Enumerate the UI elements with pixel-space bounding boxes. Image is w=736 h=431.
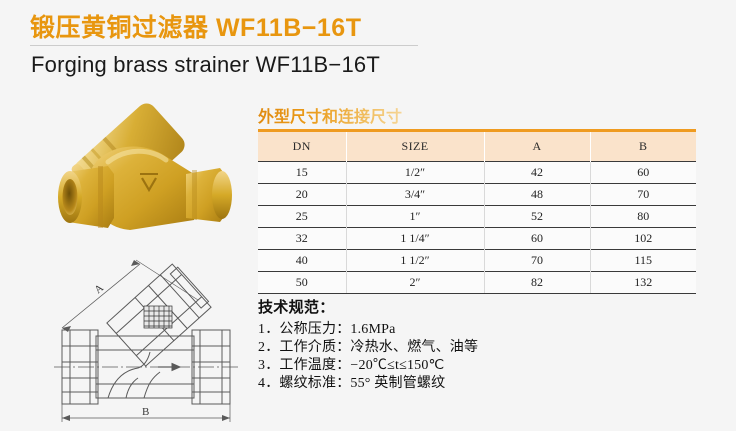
cell-b: 115 [590, 250, 696, 272]
cell-size: 1″ [346, 206, 484, 228]
cell-size: 1 1/2″ [346, 250, 484, 272]
cell-size: 1/2″ [346, 162, 484, 184]
cell-a: 52 [484, 206, 590, 228]
cell-size: 2″ [346, 272, 484, 294]
cell-size: 3/4″ [346, 184, 484, 206]
specs-column: 外型尺寸和连接尺寸 DN SIZE A B 15 1/2″ 42 60 20 3… [256, 0, 726, 431]
column-header-b: B [590, 131, 696, 162]
cell-a: 70 [484, 250, 590, 272]
cell-a: 42 [484, 162, 590, 184]
cell-a: 82 [484, 272, 590, 294]
spec-nominal-pressure: 1．公称压力：1.6MPa [258, 321, 558, 339]
cell-b: 132 [590, 272, 696, 294]
cell-dn: 20 [258, 184, 346, 206]
dimensions-heading: 外型尺寸和连接尺寸 [258, 103, 402, 127]
table-row: 15 1/2″ 42 60 [258, 162, 696, 184]
cell-b: 60 [590, 162, 696, 184]
cell-size: 1 1/4″ [346, 228, 484, 250]
cell-dn: 25 [258, 206, 346, 228]
dimension-a-label: A [92, 282, 106, 296]
dimension-b-label: B [142, 406, 149, 418]
table-row: 40 1 1/2″ 70 115 [258, 250, 696, 272]
spec-working-temperature: 3．工作温度：−20℃≤t≤150℃ [258, 357, 558, 375]
spec-thread-standard: 4．螺纹标准：55° 英制管螺纹 [258, 375, 558, 393]
table-row: 50 2″ 82 132 [258, 272, 696, 294]
cell-a: 60 [484, 228, 590, 250]
cell-b: 70 [590, 184, 696, 206]
cell-dn: 32 [258, 228, 346, 250]
column-header-dn: DN [258, 131, 346, 162]
cell-b: 80 [590, 206, 696, 228]
cell-dn: 40 [258, 250, 346, 272]
table-row: 32 1 1/4″ 60 102 [258, 228, 696, 250]
product-photo [34, 96, 249, 256]
cell-dn: 50 [258, 272, 346, 294]
cell-a: 48 [484, 184, 590, 206]
dimensions-table: DN SIZE A B 15 1/2″ 42 60 20 3/4″ 48 70 … [258, 129, 696, 294]
cell-b: 102 [590, 228, 696, 250]
specifications-heading: 技术规范： [258, 296, 558, 317]
cell-dn: 15 [258, 162, 346, 184]
table-header-row: DN SIZE A B [258, 131, 696, 162]
column-header-a: A [484, 131, 590, 162]
column-header-size: SIZE [346, 131, 484, 162]
table-row: 25 1″ 52 80 [258, 206, 696, 228]
table-row: 20 3/4″ 48 70 [258, 184, 696, 206]
spec-working-medium: 2．工作介质：冷热水、燃气、油等 [258, 339, 558, 357]
specifications-block: 技术规范： 1．公称压力：1.6MPa 2．工作介质：冷热水、燃气、油等 3．工… [258, 296, 558, 393]
technical-drawing: A B [40, 258, 255, 430]
